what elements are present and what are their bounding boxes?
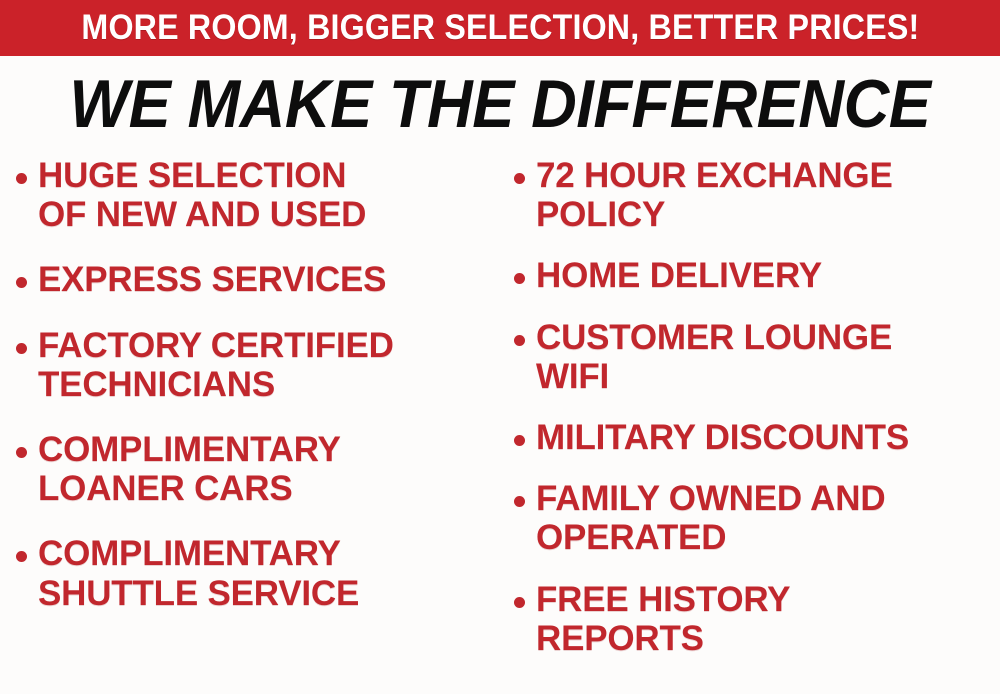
headline-text: WE MAKE THE DIFFERENCE [69, 70, 930, 138]
bullet-dot-icon [16, 173, 27, 184]
list-item-label: COMPLIMENTARY LOANER CARS [38, 430, 496, 508]
bullet-dot-icon [16, 277, 27, 288]
list-item-label: HOME DELIVERY [536, 256, 998, 295]
benefits-column-left: HUGE SELECTION OF NEW AND USED EXPRESS S… [0, 156, 500, 694]
bullet-dot-icon [514, 273, 525, 284]
banner-headline-text: MORE ROOM, BIGGER SELECTION, BETTER PRIC… [81, 10, 919, 47]
list-item-label: CUSTOMER LOUNGE WIFI [536, 318, 998, 396]
list-item: FREE HISTORY REPORTS [514, 580, 998, 658]
list-item-label: FREE HISTORY REPORTS [536, 580, 998, 658]
list-item: MILITARY DISCOUNTS [514, 418, 998, 457]
bullet-dot-icon [16, 343, 27, 354]
bullet-dot-icon [16, 551, 27, 562]
bullet-dot-icon [514, 496, 525, 507]
main-headline: WE MAKE THE DIFFERENCE [0, 62, 1000, 146]
list-item: FACTORY CERTIFIED TECHNICIANS [16, 326, 496, 404]
top-banner: MORE ROOM, BIGGER SELECTION, BETTER PRIC… [0, 0, 1000, 56]
list-item: EXPRESS SERVICES [16, 260, 496, 299]
benefits-columns: HUGE SELECTION OF NEW AND USED EXPRESS S… [0, 156, 1000, 694]
promo-poster: MORE ROOM, BIGGER SELECTION, BETTER PRIC… [0, 0, 1000, 694]
bullet-dot-icon [514, 173, 525, 184]
list-item: FAMILY OWNED AND OPERATED [514, 479, 998, 557]
list-item-label: EXPRESS SERVICES [38, 260, 496, 299]
benefits-column-right: 72 HOUR EXCHANGE POLICY HOME DELIVERY CU… [500, 156, 1000, 694]
list-item: COMPLIMENTARY LOANER CARS [16, 430, 496, 508]
bullet-dot-icon [16, 447, 27, 458]
list-item: COMPLIMENTARY SHUTTLE SERVICE [16, 534, 496, 612]
list-item: HUGE SELECTION OF NEW AND USED [16, 156, 496, 234]
list-item: CUSTOMER LOUNGE WIFI [514, 318, 998, 396]
list-item-label: MILITARY DISCOUNTS [536, 418, 998, 457]
bullet-dot-icon [514, 435, 525, 446]
bullet-dot-icon [514, 597, 525, 608]
list-item-label: FAMILY OWNED AND OPERATED [536, 479, 998, 557]
list-item-label: HUGE SELECTION OF NEW AND USED [38, 156, 496, 234]
list-item: 72 HOUR EXCHANGE POLICY [514, 156, 998, 234]
list-item: HOME DELIVERY [514, 256, 998, 295]
list-item-label: COMPLIMENTARY SHUTTLE SERVICE [38, 534, 496, 612]
list-item-label: FACTORY CERTIFIED TECHNICIANS [38, 326, 496, 404]
bullet-dot-icon [514, 335, 525, 346]
list-item-label: 72 HOUR EXCHANGE POLICY [536, 156, 998, 234]
